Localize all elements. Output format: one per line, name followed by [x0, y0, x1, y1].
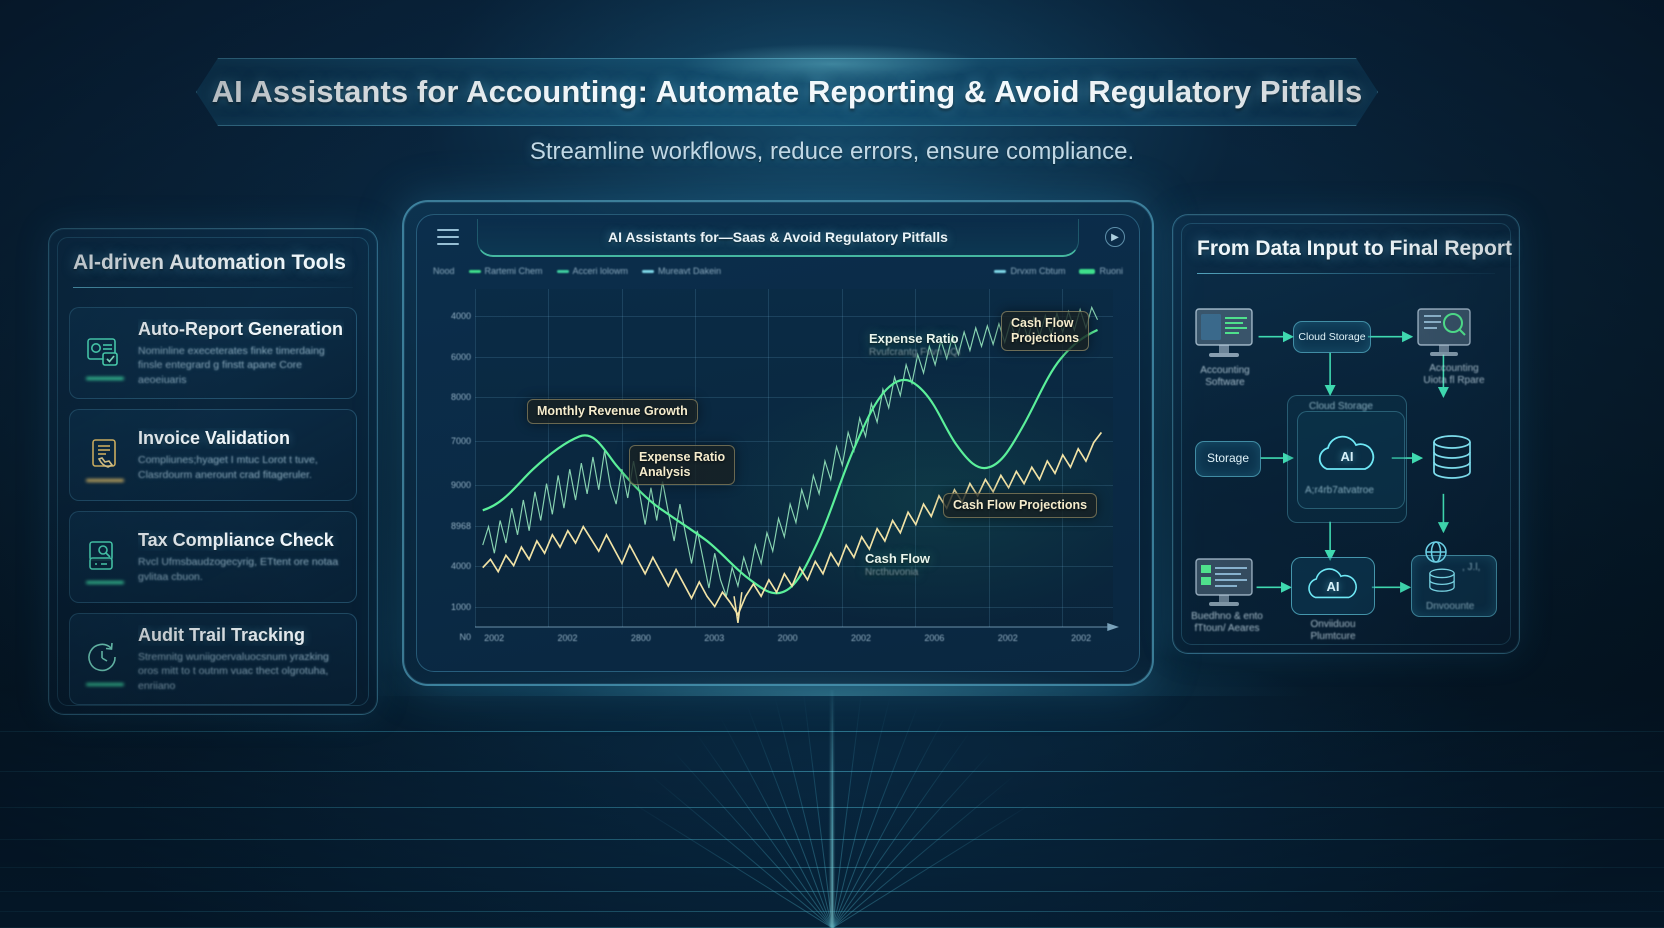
tax-shield-icon — [82, 534, 128, 580]
annotation-cash-flow: Cash Flow Nrcthuvonia — [865, 535, 930, 595]
feature-title: Invoice Validation — [138, 428, 344, 449]
legend-entry[interactable]: Acceri lolowm — [557, 266, 629, 276]
feature-desc: Nominline execeterates finke timerdaing … — [138, 344, 344, 387]
legend-swatch — [642, 270, 654, 273]
page-subtitle: Streamline workflows, reduce errors, ens… — [0, 138, 1664, 166]
annotation-monthly-revenue-growth[interactable]: Monthly Revenue Growth — [527, 399, 698, 424]
caption-ai-cloud-bottom: Onviiduou Plumtcure — [1291, 619, 1375, 643]
caption-reporting-software: Buedhno & ento fTtoun/ Aeares — [1187, 611, 1267, 635]
node-cloud-storage-top[interactable]: Cloud Storage — [1293, 321, 1371, 353]
legend-swatch — [1079, 269, 1095, 274]
automation-tools-panel: AI-driven Automation Tools Auto-R — [48, 228, 378, 715]
database-icon-mid — [1423, 429, 1481, 492]
feature-card-audit-trail[interactable]: Audit Trail Tracking Stremnitg wuniigoer… — [69, 613, 357, 705]
feature-desc: Stremnitg wuniigoervaluocsnum yrazking o… — [138, 650, 344, 693]
ai-cloud-node-bottom[interactable]: AI — [1291, 557, 1375, 615]
tablet-title-pill: AI Assistants for—Saas & Avoid Regulator… — [477, 219, 1079, 257]
accounting-report-monitor-icon — [1415, 307, 1473, 364]
caption-accounting-software: Accounting Software — [1187, 365, 1263, 389]
feature-card-invoice-validation[interactable]: Invoice Validation Compliunes;hyaget I m… — [69, 409, 357, 501]
annotation-cash-flow-projections-top[interactable]: Cash Flow Projections — [1001, 311, 1089, 351]
legend-label: Ruoni — [1099, 266, 1123, 276]
x-tick-label: 2002 — [998, 633, 1018, 643]
legend-label: Nood — [433, 266, 455, 276]
left-heading-divider — [73, 287, 353, 288]
legend-swatch — [994, 270, 1006, 273]
x-tick-label: 2002 — [484, 633, 504, 643]
hamburger-menu-icon[interactable] — [437, 229, 459, 250]
ai-cloud-icon-mid[interactable]: AI — [1309, 431, 1385, 481]
legend-entry[interactable]: Rartemi Chem — [469, 266, 543, 276]
globe-icon — [1423, 539, 1449, 570]
page-title-banner: AI Assistants for Accounting: Automate R… — [196, 58, 1378, 126]
feature-title: Audit Trail Tracking — [138, 625, 344, 646]
x-tick-label: 2006 — [924, 633, 944, 643]
ai-cloud-label-bottom: AI — [1327, 579, 1340, 594]
annotation-cash-flow-projections[interactable]: Cash Flow Projections — [943, 493, 1097, 518]
right-heading-divider — [1197, 273, 1495, 274]
flow-diagram: Accounting Software Cloud Storage Accoun… — [1187, 289, 1511, 643]
legend-label: Acceri lolowm — [573, 266, 629, 276]
legend-label: Mureavt Dakein — [658, 266, 721, 276]
feature-card-auto-report[interactable]: Auto-Report Generation Nominline execete… — [69, 307, 357, 399]
legend-entry[interactable]: Mureavt Dakein — [642, 266, 721, 276]
ghost-label-cloud-storage-mid: Cloud Storage — [1309, 401, 1373, 412]
invoice-hand-icon — [82, 432, 128, 478]
caption-accounting-report: Accounting Uiota fl Rpare — [1409, 363, 1499, 387]
legend-entry[interactable]: Ruoni — [1079, 266, 1123, 276]
y-tick-label: 4000 — [451, 561, 471, 571]
perspective-floor-grid — [0, 690, 1664, 928]
legend-label: Drvxm Cbtum — [1010, 266, 1065, 276]
documents-icon-label: , J.l, — [1462, 562, 1480, 574]
node-storage[interactable]: Storage — [1195, 441, 1261, 477]
x-axis: 2002 2002 2800 2003 2000 2002 2006 2002 … — [475, 633, 1113, 651]
caption-documents: Dnvoounte — [1426, 601, 1474, 613]
annotation-sublabel: Nrcthuvonia — [865, 567, 930, 579]
y-tick-label: 7000 — [451, 436, 471, 446]
annotation-expense-ratio-analysis[interactable]: Expense Ratio Analysis — [629, 445, 735, 485]
y-tick-label: 8968 — [451, 521, 471, 531]
x-tick-label: 2002 — [851, 633, 871, 643]
feature-card-tax-compliance[interactable]: Tax Compliance Check Rvcl Ufmsbaudzogecy… — [69, 511, 357, 603]
page-title: AI Assistants for Accounting: Automate R… — [212, 74, 1363, 110]
feature-desc: Rvcl Ufmsbaudzogecyrig, ETtent ore notaa… — [138, 555, 344, 583]
tablet-device-frame: AI Assistants for—Saas & Avoid Regulator… — [402, 200, 1154, 686]
left-panel-heading: AI-driven Automation Tools — [73, 251, 353, 275]
feature-desc: Compliunes;hyaget I mtuc Lorot t tuve, C… — [138, 453, 344, 481]
tablet-title: AI Assistants for—Saas & Avoid Regulator… — [608, 229, 948, 245]
chart-area: 4000 6000 8000 7000 9000 8968 4000 1000 … — [431, 283, 1129, 661]
tablet-topbar: AI Assistants for—Saas & Avoid Regulator… — [417, 215, 1139, 261]
data-flow-panel: From Data Input to Final Report — [1172, 214, 1520, 654]
center-light-beam — [831, 690, 834, 928]
legend-entry[interactable]: Drvxm Cbtum — [994, 266, 1065, 276]
y-axis: 4000 6000 8000 7000 9000 8968 4000 1000 … — [431, 289, 471, 627]
legend-label: Rartemi Chem — [485, 266, 543, 276]
ghost-label-ai-mid-sub: A;r4rb7atvatroe — [1305, 485, 1374, 496]
y-tick-label: 8000 — [451, 392, 471, 402]
feature-title: Auto-Report Generation — [138, 319, 344, 340]
audit-clock-icon — [82, 636, 128, 682]
infographic-canvas: AI Assistants for Accounting: Automate R… — [0, 0, 1664, 928]
chevron-right-icon[interactable]: ▶ — [1105, 227, 1125, 247]
y-tick-label: N0 — [459, 632, 471, 642]
tablet-screen: AI Assistants for—Saas & Avoid Regulator… — [416, 214, 1140, 672]
legend-swatch — [557, 270, 569, 273]
y-tick-label: 1000 — [451, 602, 471, 612]
reporting-software-monitor-icon — [1193, 557, 1255, 614]
x-axis-arrow-icon — [475, 621, 1119, 633]
annotation-label: Expense Ratio — [869, 331, 959, 346]
y-tick-label: 9000 — [451, 480, 471, 490]
y-tick-label: 4000 — [451, 311, 471, 321]
report-window-icon — [82, 330, 128, 376]
x-tick-label: 2800 — [631, 633, 651, 643]
legend-swatch — [469, 270, 481, 273]
feature-list: Auto-Report Generation Nominline execete… — [69, 307, 357, 715]
y-tick-label: 6000 — [451, 352, 471, 362]
ai-cloud-label-mid: AI — [1341, 449, 1354, 464]
chart-legend: Nood Rartemi Chem Acceri lolowm Mureavt … — [433, 263, 1123, 279]
x-tick-label: 2000 — [778, 633, 798, 643]
x-tick-label: 2003 — [704, 633, 724, 643]
right-panel-heading: From Data Input to Final Report — [1197, 237, 1495, 261]
annotation-label: Cash Flow — [865, 551, 930, 566]
annotation-sublabel: Rvufcrantg Fvvn uQI — [869, 347, 961, 359]
feature-title: Tax Compliance Check — [138, 530, 344, 551]
accounting-software-monitor-icon — [1193, 307, 1255, 366]
legend-entry[interactable]: Nood — [433, 266, 455, 276]
x-tick-label: 2002 — [557, 633, 577, 643]
x-tick-label: 2002 — [1071, 633, 1091, 643]
annotation-expense-ratio: Expense Ratio Rvufcrantg Fvvn uQI — [869, 315, 961, 375]
